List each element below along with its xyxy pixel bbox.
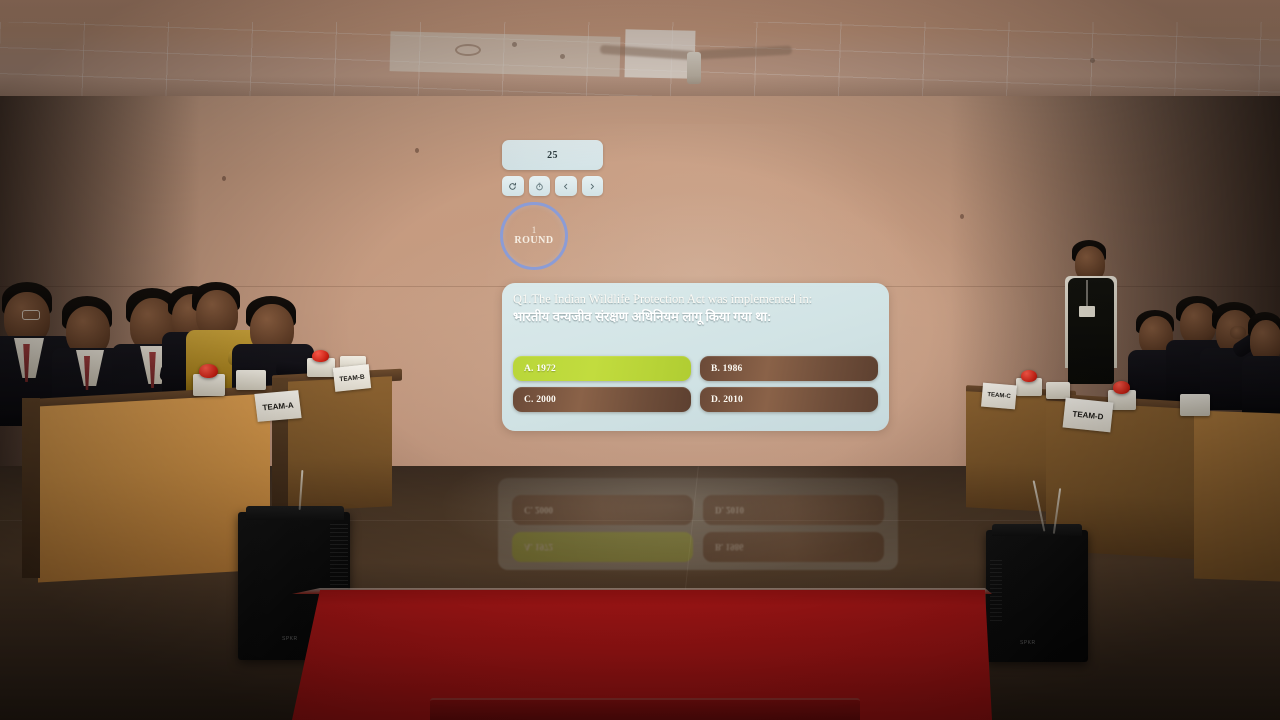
timer-display: 25 — [502, 140, 603, 170]
buzzer-base-d2 — [1180, 394, 1210, 416]
placard-team-b: TEAM-B — [333, 364, 371, 392]
reflection-option-c: C. 2000 — [512, 495, 693, 525]
round-indicator: 1 ROUND — [500, 202, 568, 270]
hand — [1230, 326, 1246, 339]
reflection-option-a: A. 1972 — [512, 532, 693, 562]
placard-team-c: TEAM-C — [981, 383, 1017, 410]
wall-mark — [415, 148, 419, 153]
placard-team-d: TEAM-D — [1063, 398, 1114, 433]
buzzer-button-c[interactable] — [1021, 370, 1037, 382]
round-number: 1 — [532, 226, 537, 235]
ceiling-vent-icon — [455, 44, 481, 56]
answer-options-grid: A. 1972 B. 1986 C. 2000 D. 2010 — [513, 356, 878, 412]
ceiling-fixture-dot — [1090, 58, 1095, 63]
lanyard — [1086, 280, 1088, 308]
desk-end-panel — [1194, 410, 1280, 581]
glasses-icon — [22, 310, 40, 320]
buzzer-button-d[interactable] — [1113, 381, 1130, 394]
reflection-option-d: D. 2010 — [703, 495, 884, 525]
stage-step — [430, 698, 860, 720]
speaker-right-grill — [990, 560, 1002, 624]
round-label: ROUND — [514, 235, 553, 246]
stopwatch-icon[interactable] — [529, 176, 551, 196]
question-text-english: Q1.The Indian Wildlife Protection Act wa… — [513, 292, 878, 307]
floor-reflection: A. 1972 B. 1986 C. 2000 D. 2010 — [498, 478, 898, 570]
id-badge — [1079, 306, 1095, 317]
desk-front-panel — [286, 376, 392, 512]
host-vest — [1068, 278, 1114, 384]
speaker-left-brand: SPKR — [282, 636, 298, 642]
torso — [1242, 356, 1280, 414]
question-text-hindi: भारतीय वन्यजीव संरक्षण अधिनियम लागू किया… — [513, 309, 878, 325]
chevron-left-icon[interactable] — [555, 176, 577, 196]
speaker-right-top — [992, 524, 1082, 536]
desk-front-panel — [38, 394, 270, 583]
placard-team-a: TEAM-A — [254, 390, 301, 422]
desk-side-panel — [22, 398, 40, 578]
reflection-option-b: B. 1986 — [703, 532, 884, 562]
buzzer-base-a2 — [236, 370, 266, 390]
buzzer-base-c2 — [1046, 382, 1070, 399]
speaker-right-brand: SPKR — [1020, 640, 1036, 646]
ceiling — [0, 0, 1280, 100]
answer-option-b[interactable]: B. 1986 — [700, 356, 878, 381]
question-card: Q1.The Indian Wildlife Protection Act wa… — [502, 283, 889, 431]
buzzer-button-a[interactable] — [199, 364, 218, 378]
reflection-options: A. 1972 B. 1986 C. 2000 D. 2010 — [512, 495, 884, 562]
timer-value: 25 — [547, 150, 558, 161]
speaker-left-top — [246, 506, 344, 520]
speaker-left-grill — [330, 524, 348, 598]
head — [1180, 303, 1216, 345]
projected-quiz-slide: 25 1 ROUND Q1.The Indian Wildlife Protec… — [493, 136, 903, 442]
answer-option-a[interactable]: A. 1972 — [513, 356, 691, 381]
answer-option-d[interactable]: D. 2010 — [700, 387, 878, 412]
reset-icon[interactable] — [502, 176, 524, 196]
buzzer-button-b[interactable] — [312, 350, 329, 362]
chevron-right-icon[interactable] — [582, 176, 604, 196]
ceiling-panel — [390, 31, 621, 77]
wall-mark — [222, 176, 226, 181]
timer-controls — [502, 176, 603, 196]
quiz-hall-scene: 25 1 ROUND Q1.The Indian Wildlife Protec… — [0, 0, 1280, 720]
answer-option-c[interactable]: C. 2000 — [513, 387, 691, 412]
ceiling-fixture-dot — [512, 42, 517, 47]
ceiling-fixture-dot — [560, 54, 565, 59]
